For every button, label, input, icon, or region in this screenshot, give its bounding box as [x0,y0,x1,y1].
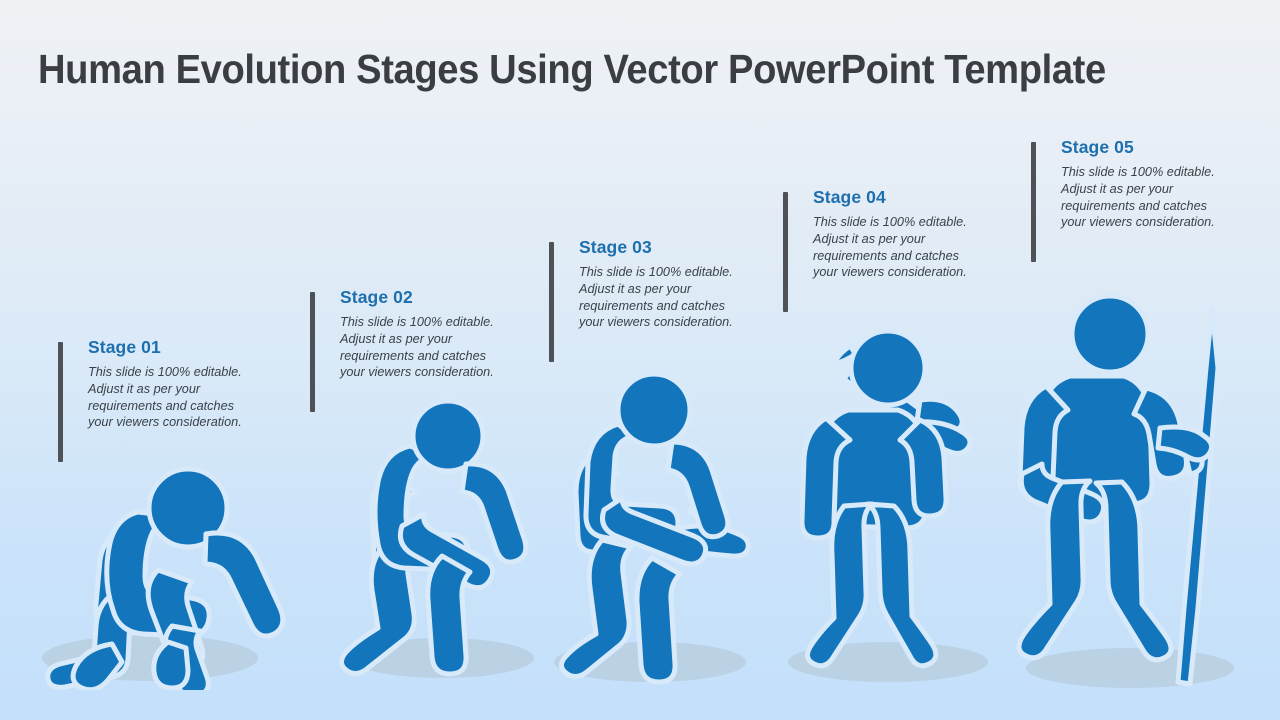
stage-accent-bar-03 [549,242,554,362]
figure-shadow-05 [1026,648,1234,688]
page-title: Human Evolution Stages Using Vector Powe… [38,46,1163,93]
stage-description-01: This slide is 100% editable. Adjust it a… [88,364,244,431]
stage-description-04: This slide is 100% editable. Adjust it a… [813,214,969,281]
stage-title-02: Stage 02 [340,288,496,307]
tool3-head [618,374,690,446]
figure-stage-02[interactable] [330,390,560,690]
stage-description-02: This slide is 100% editable. Adjust it a… [340,314,496,381]
carrier4-right-leg [868,504,936,666]
stooped-walking-figure [341,401,525,674]
holder5-right-leg [1096,482,1171,660]
stage-text-block-03[interactable]: Stage 03 This slide is 100% editable. Ad… [549,238,735,331]
stage-accent-bar-04 [783,192,788,312]
stage-description-03: This slide is 100% editable. Adjust it a… [579,264,735,331]
stage-accent-bar-02 [310,292,315,412]
standing-spear-holder-figure [1019,296,1218,684]
ape-right-foot [154,642,188,688]
stage-title-03: Stage 03 [579,238,735,257]
stage-text-block-01[interactable]: Stage 01 This slide is 100% editable. Ad… [58,338,244,431]
walker2-right-arm [462,464,526,562]
stage-text-block-04[interactable]: Stage 04 This slide is 100% editable. Ad… [783,188,969,281]
figure-stage-05[interactable] [1000,278,1270,698]
holder5-head [1072,296,1148,372]
spear5-shaft [1178,308,1218,684]
tool-holding-figure [561,374,748,682]
stage-text-block-02[interactable]: Stage 02 This slide is 100% editable. Ad… [310,288,496,381]
tool3-right-leg [637,558,680,682]
stage-accent-bar-05 [1031,142,1036,262]
slide-canvas: Human Evolution Stages Using Vector Powe… [0,0,1280,720]
figure-stage-01[interactable] [10,430,290,690]
figure-stage-03[interactable] [540,362,780,692]
stage-title-05: Stage 05 [1061,138,1217,157]
stage-text-block-05[interactable]: Stage 05 This slide is 100% editable. Ad… [1031,138,1217,231]
walker2-right-leg [428,556,470,674]
stage-title-04: Stage 04 [813,188,969,207]
upright-spear-carrier-figure [802,331,970,666]
holder5-left-leg [1019,481,1090,658]
carrier4-head [851,331,925,405]
ape-right-arm [205,533,283,636]
walker2-head [413,401,483,471]
stage-title-01: Stage 01 [88,338,244,357]
stage-description-05: This slide is 100% editable. Adjust it a… [1061,164,1217,231]
figure-stage-04[interactable] [770,314,1020,694]
